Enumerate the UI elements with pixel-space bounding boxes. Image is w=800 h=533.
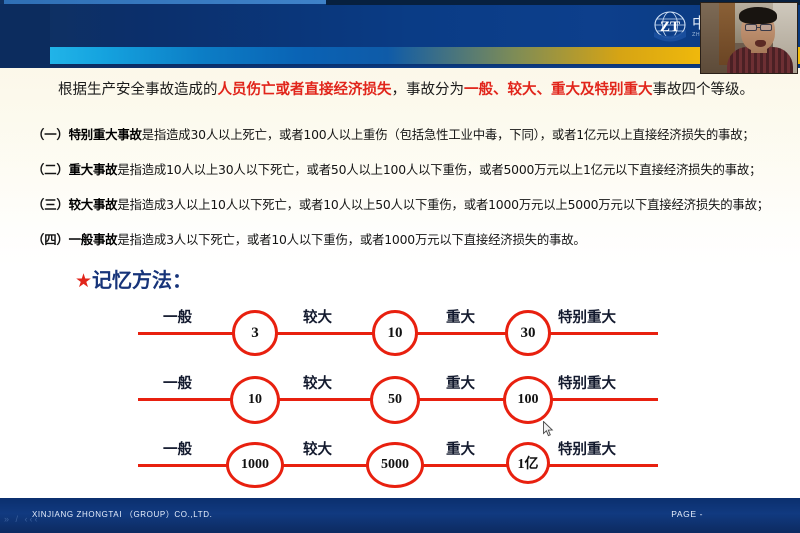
header-left-block: [0, 4, 50, 68]
item-text: 是指造成3人以下死亡，或者10人以下重伤，或者1000万元以下直接经济损失的事故…: [117, 232, 585, 247]
segment-label-extra-large: 特别重大: [558, 372, 616, 393]
segment-label-large: 重大: [446, 306, 475, 327]
list-item: （一）特别重大事故是指造成30人以上死亡，或者100人以上重伤（包括急性工业中毒…: [32, 128, 782, 141]
presentation-slide: ZT 中泰 ZHONGTAI GROUP 根据生产安全事故造成的人员伤亡或者直接…: [0, 0, 800, 533]
segment-label-general: 一般: [163, 306, 192, 327]
segment-label-extra-large: 特别重大: [558, 306, 616, 327]
memory-method-heading: ★记忆方法：: [75, 268, 192, 293]
footer-company-name: XINJIANG ZHONGTAI （GROUP）CO.,LTD.: [32, 509, 212, 520]
zt-globe-icon: ZT: [652, 10, 688, 44]
webcam-presenter-glasses-left: [745, 24, 757, 31]
webcam-presenter-glasses-right: [760, 24, 772, 31]
item-term: 重大事故: [69, 162, 118, 177]
diagram-node: 10: [372, 310, 418, 356]
diagram-node: 1000: [226, 442, 284, 488]
diagram-node: 30: [505, 310, 551, 356]
memory-method-label: 记忆方法：: [92, 268, 192, 292]
segment-label-relatively-large: 较大: [303, 438, 332, 459]
svg-text:ZT: ZT: [660, 19, 680, 35]
star-icon: ★: [75, 270, 92, 292]
list-item: （四）一般事故是指造成3人以下死亡，或者10人以下重伤，或者1000万元以下直接…: [32, 233, 782, 246]
presenter-webcam-overlay[interactable]: [700, 2, 798, 74]
slide-footer: » / ‹‹‹ XINJIANG ZHONGTAI （GROUP）CO.,LTD…: [0, 498, 800, 533]
intro-paragraph: 根据生产安全事故造成的人员伤亡或者直接经济损失，事故分为一般、较大、重大及特别重…: [58, 80, 758, 100]
segment-label-relatively-large: 较大: [303, 306, 332, 327]
list-item: （二）重大事故是指造成10人以上30人以下死亡，或者50人以上100人以下重伤，…: [32, 163, 782, 176]
mouse-cursor: [543, 421, 554, 437]
item-term: 一般事故: [69, 232, 118, 247]
intro-highlight-levels: 一般、较大、重大及特别重大: [464, 82, 653, 98]
segment-label-large: 重大: [446, 372, 475, 393]
intro-text-part3: 事故四个等级。: [653, 82, 755, 98]
segment-label-general: 一般: [163, 372, 192, 393]
diagram-row-economic-loss: 一般 1000 较大 5000 重大 1亿 特别重大: [0, 432, 800, 498]
webcam-presenter-hair: [739, 7, 777, 24]
diagram-node: 100: [503, 376, 553, 424]
diagram-node: 1亿: [506, 442, 550, 484]
segment-label-large: 重大: [446, 438, 475, 459]
item-text: 是指造成30人以上死亡，或者100人以上重伤（包括急性工业中毒，下同），或者1亿…: [142, 127, 755, 142]
item-text: 是指造成10人以上30人以下死亡，或者50人以上100人以下重伤，或者5000万…: [117, 162, 761, 177]
diagram-node: 50: [370, 376, 420, 424]
list-item: （三）较大事故是指造成3人以上10人以下死亡，或者10人以上50人以下重伤，或者…: [32, 198, 782, 211]
intro-highlight-injury-loss: 人员伤亡或者直接经济损失: [218, 82, 392, 98]
diagram-node: 10: [230, 376, 280, 424]
header-gradient-stripe: [50, 47, 800, 64]
diagram-row-injuries: 一般 10 较大 50 重大 100 特别重大: [0, 366, 800, 432]
slide-header-banner: ZT 中泰 ZHONGTAI GROUP: [0, 0, 800, 68]
diagram-row-deaths: 一般 3 较大 10 重大 30 特别重大: [0, 300, 800, 366]
diagram-node: 3: [232, 310, 278, 356]
item-text: 是指造成3人以上10人以下死亡，或者10人以上50人以下重伤，或者1000万元以…: [117, 197, 769, 212]
accident-level-list: （一）特别重大事故是指造成30人以上死亡，或者100人以上重伤（包括急性工业中毒…: [32, 128, 782, 268]
item-term: 特别重大事故: [69, 127, 142, 142]
webcam-presenter-mouth: [755, 40, 766, 47]
diagram-node: 5000: [366, 442, 424, 488]
item-term: 较大事故: [69, 197, 118, 212]
webcam-presenter-glasses-bridge: [757, 27, 760, 28]
intro-text-part1: 根据生产安全事故造成的: [58, 82, 218, 98]
item-number: （二）: [32, 162, 69, 177]
memory-diagram: 一般 3 较大 10 重大 30 特别重大 一般 10 较大 50 重大 100…: [0, 300, 800, 498]
header-top-accent-line: [4, 0, 326, 4]
intro-text-part2: ，事故分为: [392, 82, 465, 98]
item-number: （四）: [32, 232, 69, 247]
item-number: （一）: [32, 127, 69, 142]
footer-page-number: PAGE -: [671, 509, 703, 519]
item-number: （三）: [32, 197, 69, 212]
segment-label-general: 一般: [163, 438, 192, 459]
segment-label-extra-large: 特别重大: [558, 438, 616, 459]
segment-label-relatively-large: 较大: [303, 372, 332, 393]
